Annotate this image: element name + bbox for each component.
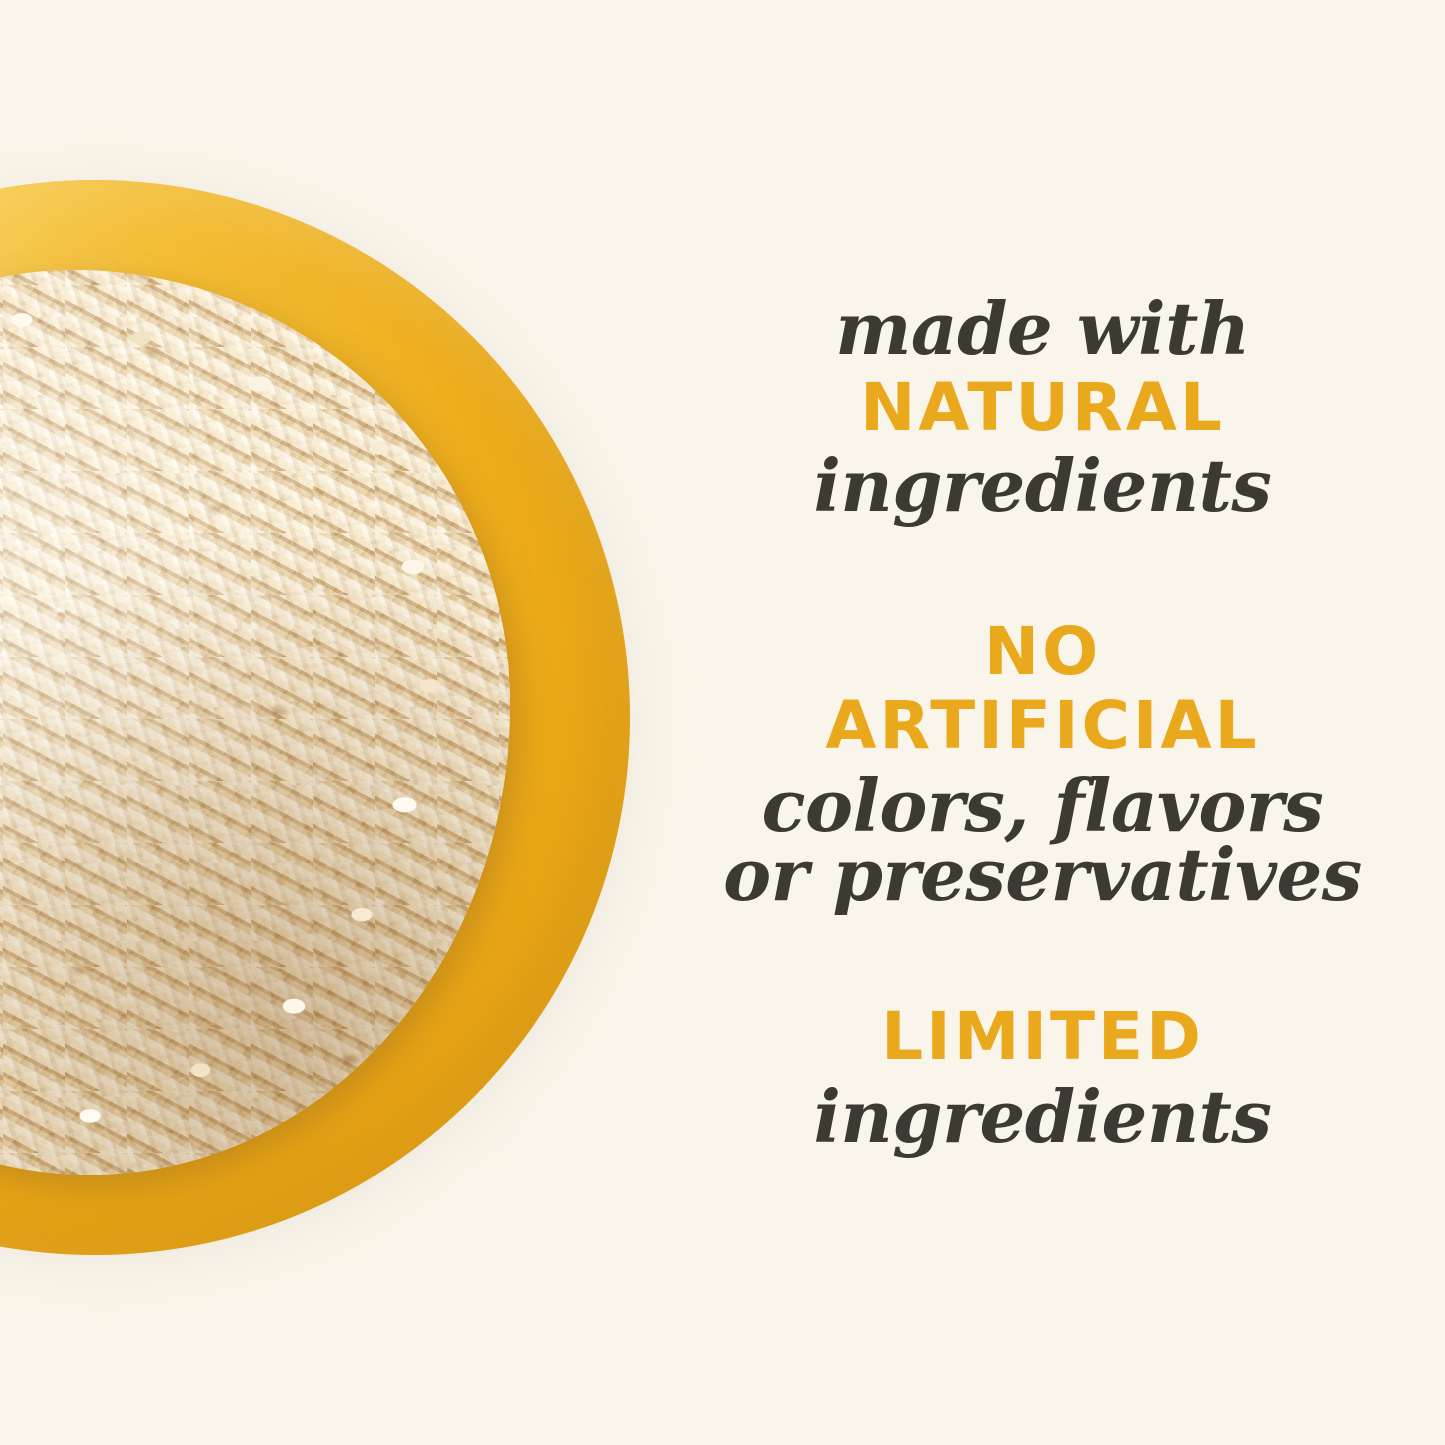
claim-no-artificial: NO ARTIFICIAL colors, flavors or preserv…: [640, 619, 1445, 912]
shredded-chicken-and-rice: [0, 270, 510, 1175]
claim-line-ingredients-2: ingredients: [640, 1080, 1445, 1153]
claim-line-limited: LIMITED: [640, 1004, 1445, 1070]
claims-panel: made with NATURAL ingredients NO ARTIFIC…: [640, 0, 1445, 1445]
product-photo: [0, 0, 700, 1445]
marketing-image: made with NATURAL ingredients NO ARTIFIC…: [0, 0, 1445, 1445]
claim-line-natural: NATURAL: [640, 375, 1445, 441]
claim-line-colors-flavors: colors, flavors: [640, 769, 1445, 842]
claim-line-no: NO: [640, 619, 1445, 685]
claim-limited-ingredients: LIMITED ingredients: [640, 1004, 1445, 1153]
claim-line-or-preservatives: or preservatives: [640, 838, 1445, 911]
claim-line-made-with: made with: [640, 292, 1445, 365]
claim-line-artificial: ARTIFICIAL: [640, 693, 1445, 759]
claim-line-ingredients: ingredients: [640, 449, 1445, 522]
food-volume-shading: [0, 270, 510, 1175]
claim-natural-ingredients: made with NATURAL ingredients: [640, 292, 1445, 523]
